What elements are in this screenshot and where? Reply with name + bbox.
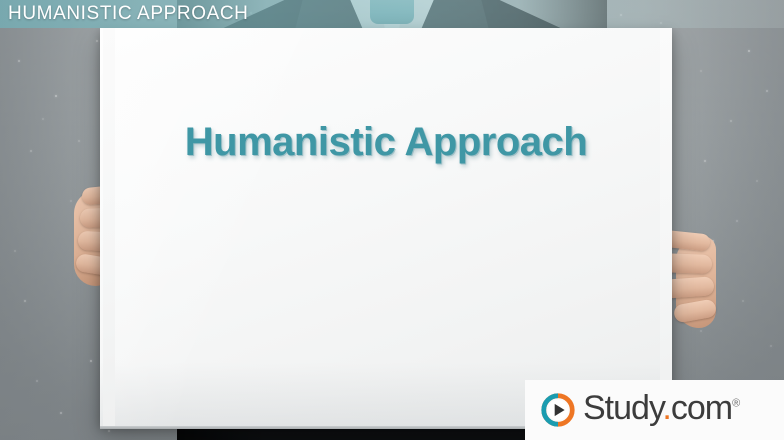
video-frame: Humanistic Approach HUMANISTIC APPROACH … (0, 0, 784, 440)
whiteboard-sheen (100, 28, 672, 426)
logo-trademark: ® (732, 398, 740, 410)
logo-word-study: Study (583, 389, 662, 427)
banner-title: HUMANISTIC APPROACH (8, 0, 249, 28)
logo-word-com: com (671, 389, 732, 427)
title-banner: HUMANISTIC APPROACH (0, 0, 784, 28)
whiteboard: Humanistic Approach (100, 28, 672, 426)
study-com-logo[interactable]: Study.com® (525, 380, 784, 440)
whiteboard-title: Humanistic Approach (100, 120, 672, 165)
logo-dot: . (662, 389, 670, 427)
play-button-circle-icon (539, 391, 577, 429)
study-com-wordmark: Study.com® (583, 391, 740, 425)
